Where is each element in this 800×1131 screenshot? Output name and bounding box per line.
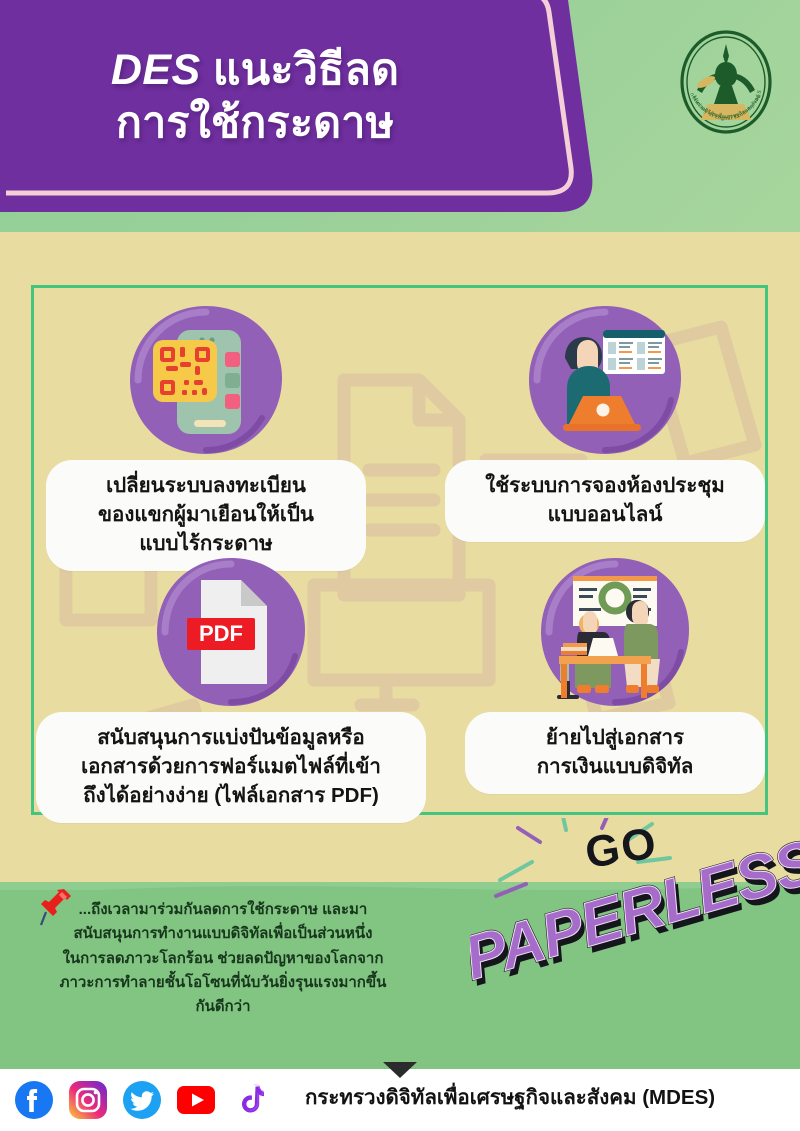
page-title-line-1: DES แนะวิธีลด: [111, 44, 399, 96]
tiktok-icon[interactable]: [230, 1080, 270, 1120]
card-meeting-line-2: แบบออนไลน์: [461, 500, 749, 529]
card-finance-line-1: ย้ายไปสู่เอกสาร: [481, 723, 749, 752]
card-finance-line-2: การเงินแบบดิจิทัล: [481, 752, 749, 781]
card-meeting-icon-wrap: [445, 300, 765, 460]
card-meeting-line-1: ใช้ระบบการจองห้องประชุม: [461, 471, 749, 500]
card-meeting-label: ใช้ระบบการจองห้องประชุม แบบออนไลน์: [445, 460, 765, 542]
twitter-icon[interactable]: [122, 1080, 162, 1120]
card-registration: เปลี่ยนระบบลงทะเบียน ของแขกผู้มาเยือนให้…: [46, 300, 366, 571]
header-banner: DES แนะวิธีลด การใช้กระดาษ: [0, 0, 610, 225]
bottom-note-line-2: สนับสนุนการทำงานแบบดิจิทัลเพื่อเป็นส่วนห…: [28, 922, 418, 946]
card-digital-finance: ย้ายไปสู่เอกสาร การเงินแบบดิจิทัล: [465, 552, 765, 794]
card-pdf-line-3: ถึงได้อย่างง่าย (ไฟล์เอกสาร PDF): [52, 781, 410, 810]
facebook-icon[interactable]: [14, 1080, 54, 1120]
pdf-badge-label: PDF: [199, 621, 243, 646]
qr-phone-icon: [122, 300, 290, 460]
card-meeting-booking: ใช้ระบบการจองห้องประชุม แบบออนไลน์: [445, 300, 765, 542]
youtube-icon[interactable]: [176, 1080, 216, 1120]
card-pdf-line-2: เอกสารด้วยการฟอร์แมตไฟล์ที่เข้า: [52, 752, 410, 781]
ministry-seal-icon: กระทรวงดิจิทัลเพื่อเศรษฐกิจและสังคม Mini…: [672, 26, 780, 144]
instagram-icon[interactable]: [68, 1080, 108, 1120]
card-pdf-label: สนับสนุนการแบ่งปันข้อมูลหรือ เอกสารด้วยก…: [36, 712, 426, 823]
card-pdf-sharing: PDF สนับสนุนการแบ่งปันข้อมูลหรือ เอกสารด…: [36, 552, 426, 823]
paperless-word-go: GO: [582, 818, 661, 878]
card-finance-label: ย้ายไปสู่เอกสาร การเงินแบบดิจิทัล: [465, 712, 765, 794]
title-thai-part-1: แนะวิธีลด: [213, 46, 399, 94]
infographic-canvas: DES แนะวิธีลด การใช้กระดาษ: [0, 0, 800, 1131]
card-registration-icon-wrap: [46, 300, 366, 460]
bottom-note-line-3: ในการลดภาวะโลกร้อน ช่วยลดปัญหาของโลกจาก: [28, 947, 418, 971]
card-finance-icon-wrap: [465, 552, 765, 712]
go-paperless-graphic: GO PAPERLESS PAPERLESS PAPERLESS: [470, 818, 800, 1038]
header-title-block: DES แนะวิธีลด การใช้กระดาษ: [0, 0, 550, 205]
page-title-line-2: การใช้กระดาษ: [116, 97, 394, 149]
card-registration-line-1: เปลี่ยนระบบลงทะเบียน: [62, 471, 350, 500]
footer-notch-arrow: [383, 1062, 417, 1078]
footer-ministry-text: กระทรวงดิจิทัลเพื่อเศรษฐกิจและสังคม (MDE…: [305, 1081, 715, 1114]
card-pdf-line-1: สนับสนุนการแบ่งปันข้อมูลหรือ: [52, 723, 410, 752]
bottom-note-line-5: กันดีกว่า: [28, 995, 418, 1019]
bottom-note: ...ถึงเวลามาร่วมกันลดการใช้กระดาษ และมา …: [28, 898, 418, 1019]
card-registration-line-2: ของแขกผู้มาเยือนให้เป็น: [62, 500, 350, 529]
social-links: [14, 1078, 270, 1122]
title-acronym: DES: [111, 46, 201, 94]
bottom-note-line-4: ภาวะการทำลายชั้นโอโซนที่นับวันยิ่งรุนแรง…: [28, 971, 418, 995]
person-laptop-icon: [521, 300, 689, 460]
card-pdf-icon-wrap: PDF: [36, 552, 426, 712]
office-desk-icon: [533, 552, 697, 712]
bottom-note-line-1: ...ถึงเวลามาร่วมกันลดการใช้กระดาษ และมา: [28, 898, 418, 922]
pdf-file-icon: PDF: [149, 552, 313, 712]
